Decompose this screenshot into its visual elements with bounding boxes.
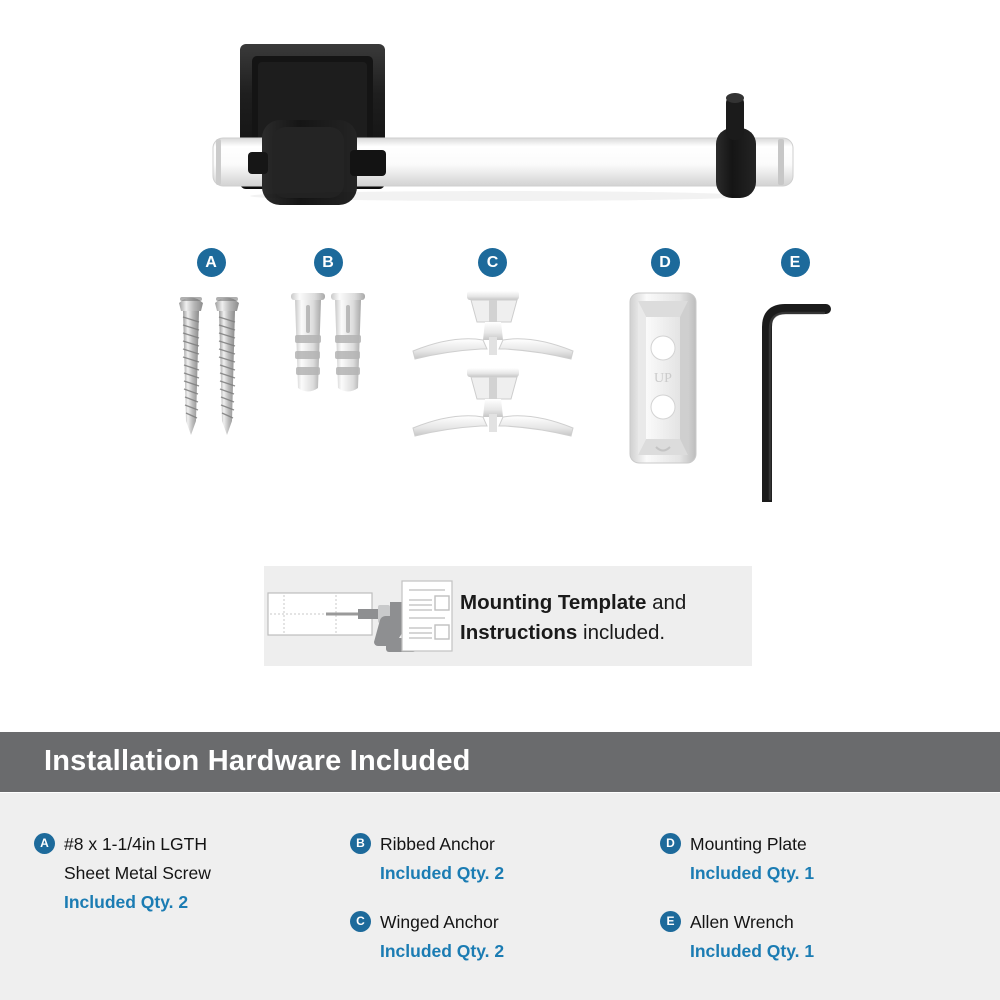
- legend-badge-b: B: [350, 833, 371, 854]
- hardware-parts-row: A: [0, 248, 1000, 518]
- part-badge-b: B: [314, 248, 343, 277]
- part-badge-e: E: [781, 248, 810, 277]
- part-badge-a: A: [197, 248, 226, 277]
- legend-name-b: Ribbed Anchor: [380, 830, 650, 859]
- mounting-template-banner: Mounting Template and Instructions inclu…: [264, 566, 752, 666]
- mounting-plate-icon: UP: [620, 287, 710, 477]
- allen-wrench-icon: [750, 287, 840, 507]
- product-info-graphic: A: [0, 0, 1000, 1000]
- legend-name-a-line1: #8 x 1-1/4in LGTH: [64, 830, 334, 859]
- part-c-winged-anchors: C: [405, 248, 580, 447]
- instruction-sheet-icon: [398, 578, 456, 659]
- template-label-rest: and: [646, 591, 686, 614]
- template-label-strong: Mounting Template: [460, 591, 646, 614]
- winged-anchor-pair-icon: [405, 287, 580, 447]
- legend-qty-d: Included Qty. 1: [690, 859, 960, 888]
- part-a-screws: A: [166, 248, 256, 462]
- section-header-bar: Installation Hardware Included: [0, 732, 1000, 792]
- legend-item-a: A #8 x 1-1/4in LGTH Sheet Metal Screw In…: [34, 830, 334, 917]
- svg-text:UP: UP: [654, 371, 672, 386]
- legend-item-e: E Allen Wrench Included Qty. 1: [660, 908, 960, 966]
- legend-qty-c: Included Qty. 2: [380, 937, 650, 966]
- legend-qty-e: Included Qty. 1: [690, 937, 960, 966]
- hardware-legend: A #8 x 1-1/4in LGTH Sheet Metal Screw In…: [0, 793, 1000, 1000]
- legend-qty-b: Included Qty. 2: [380, 859, 650, 888]
- part-b-ribbed-anchors: B: [283, 248, 373, 422]
- legend-badge-e: E: [660, 911, 681, 932]
- part-badge-c: C: [478, 248, 507, 277]
- legend-column-2: B Ribbed Anchor Included Qty. 2 C Winged…: [350, 830, 650, 966]
- part-d-mounting-plate: D: [620, 248, 710, 477]
- screw-pair-icon: [166, 287, 256, 462]
- toilet-paper-holder-illustration: [0, 0, 1000, 240]
- legend-qty-a: Included Qty. 2: [64, 888, 334, 917]
- legend-column-3: D Mounting Plate Included Qty. 1 E Allen…: [660, 830, 960, 966]
- legend-item-d: D Mounting Plate Included Qty. 1: [660, 830, 960, 888]
- legend-item-c: C Winged Anchor Included Qty. 2: [350, 908, 650, 966]
- legend-name-a-line2: Sheet Metal Screw: [64, 859, 334, 888]
- legend-badge-d: D: [660, 833, 681, 854]
- legend-name-d: Mounting Plate: [690, 830, 960, 859]
- legend-badge-a: A: [34, 833, 55, 854]
- ribbed-anchor-pair-icon: [283, 287, 373, 422]
- legend-name-c: Winged Anchor: [380, 908, 650, 937]
- legend-column-1: A #8 x 1-1/4in LGTH Sheet Metal Screw In…: [34, 830, 334, 917]
- instructions-label-rest: included.: [577, 621, 665, 644]
- legend-badge-c: C: [350, 911, 371, 932]
- page-title: Installation Hardware Included: [44, 745, 471, 778]
- mounting-template-text: Mounting Template and Instructions inclu…: [460, 588, 686, 648]
- instructions-label-strong: Instructions: [460, 621, 577, 644]
- legend-name-e: Allen Wrench: [690, 908, 960, 937]
- part-e-allen-wrench: E: [750, 248, 840, 507]
- legend-item-b: B Ribbed Anchor Included Qty. 2: [350, 830, 650, 888]
- part-badge-d: D: [651, 248, 680, 277]
- product-hero-image: [0, 0, 1000, 240]
